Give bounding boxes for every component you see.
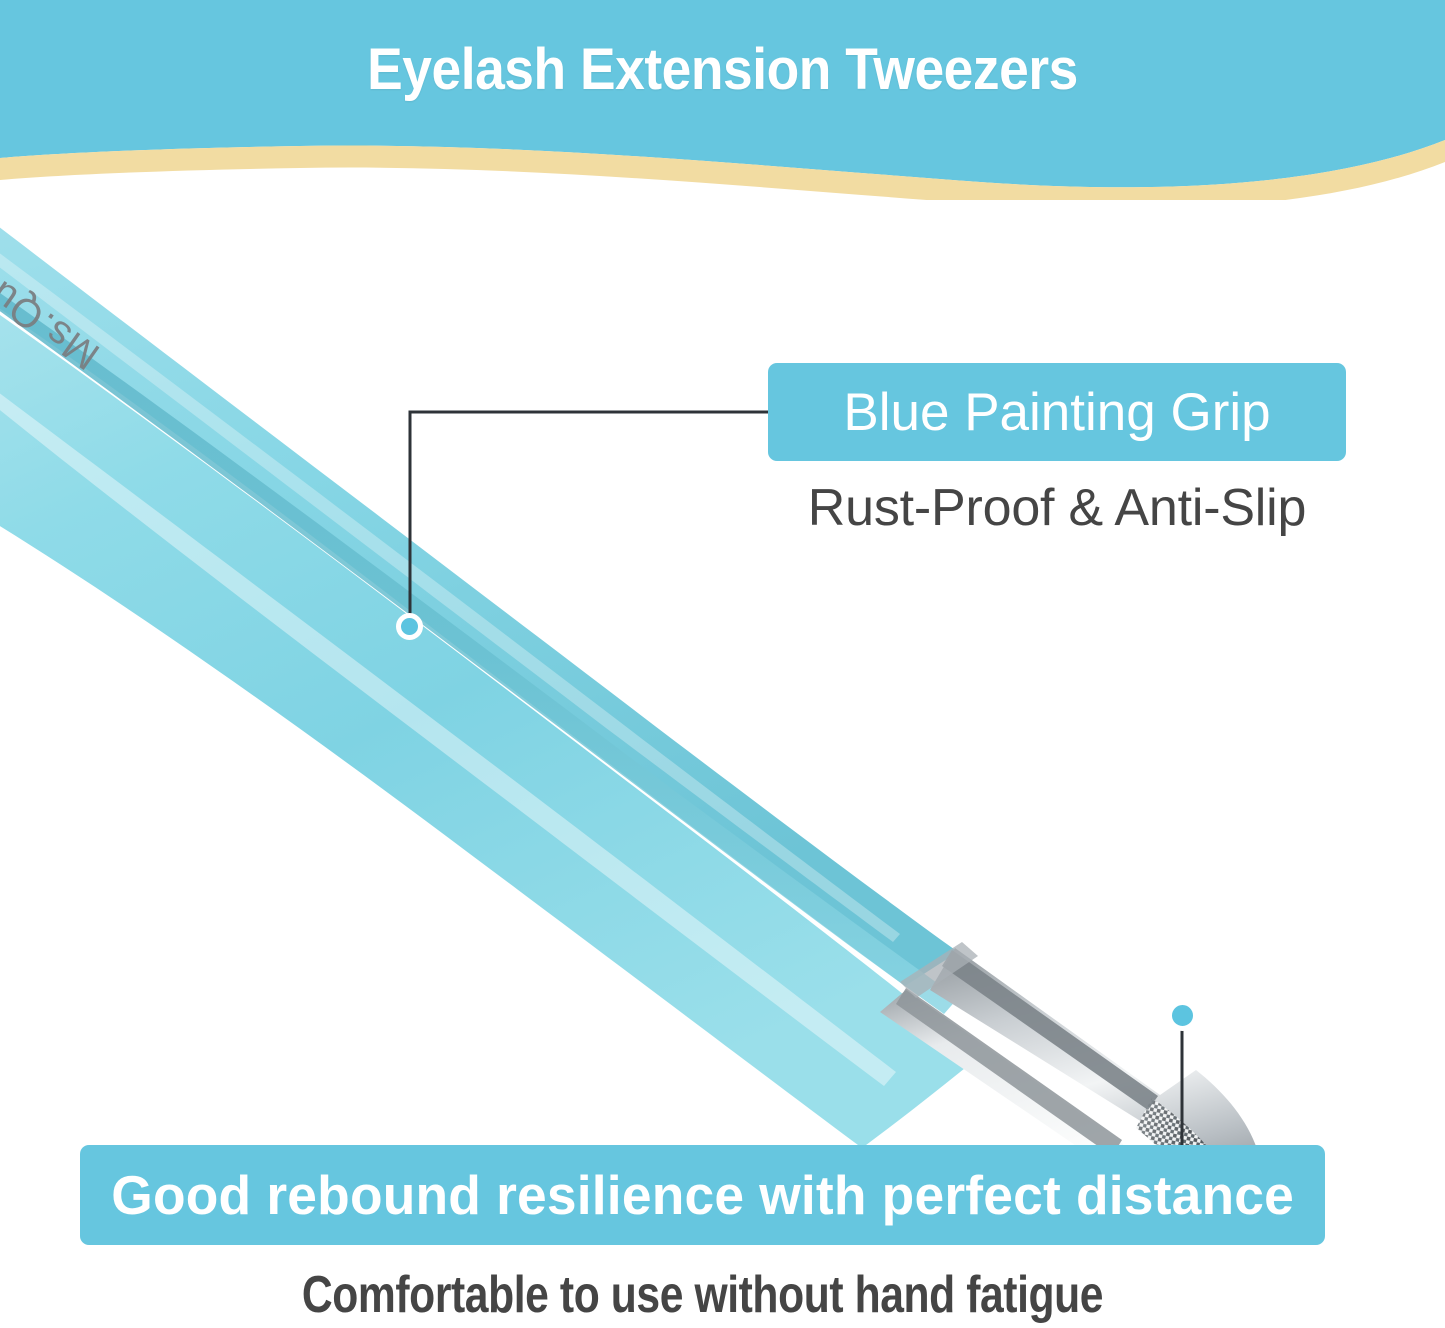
callout-dot-tip[interactable] [1167,1000,1198,1031]
product-infographic: Eyelash Extension Tweezers [0,0,1445,1328]
page-title: Eyelash Extension Tweezers [58,36,1387,103]
callout-dot-grip[interactable] [396,613,423,640]
product-image [0,190,1445,1170]
callout-badge-rebound: Good rebound resilience with perfect dis… [80,1145,1325,1245]
tweezer-upper-blade-edge [942,950,1158,1110]
callout-badge-grip: Blue Painting Grip [768,363,1346,461]
header-banner: Eyelash Extension Tweezers [0,0,1445,200]
callout-badge-rebound-label: Good rebound resilience with perfect dis… [111,1163,1294,1227]
callout-badge-grip-label: Blue Painting Grip [843,382,1270,443]
callout-caption-grip: Rust-Proof & Anti-Slip [768,478,1346,538]
callout-caption-rebound: Comfortable to use without hand fatigue [192,1265,1213,1325]
